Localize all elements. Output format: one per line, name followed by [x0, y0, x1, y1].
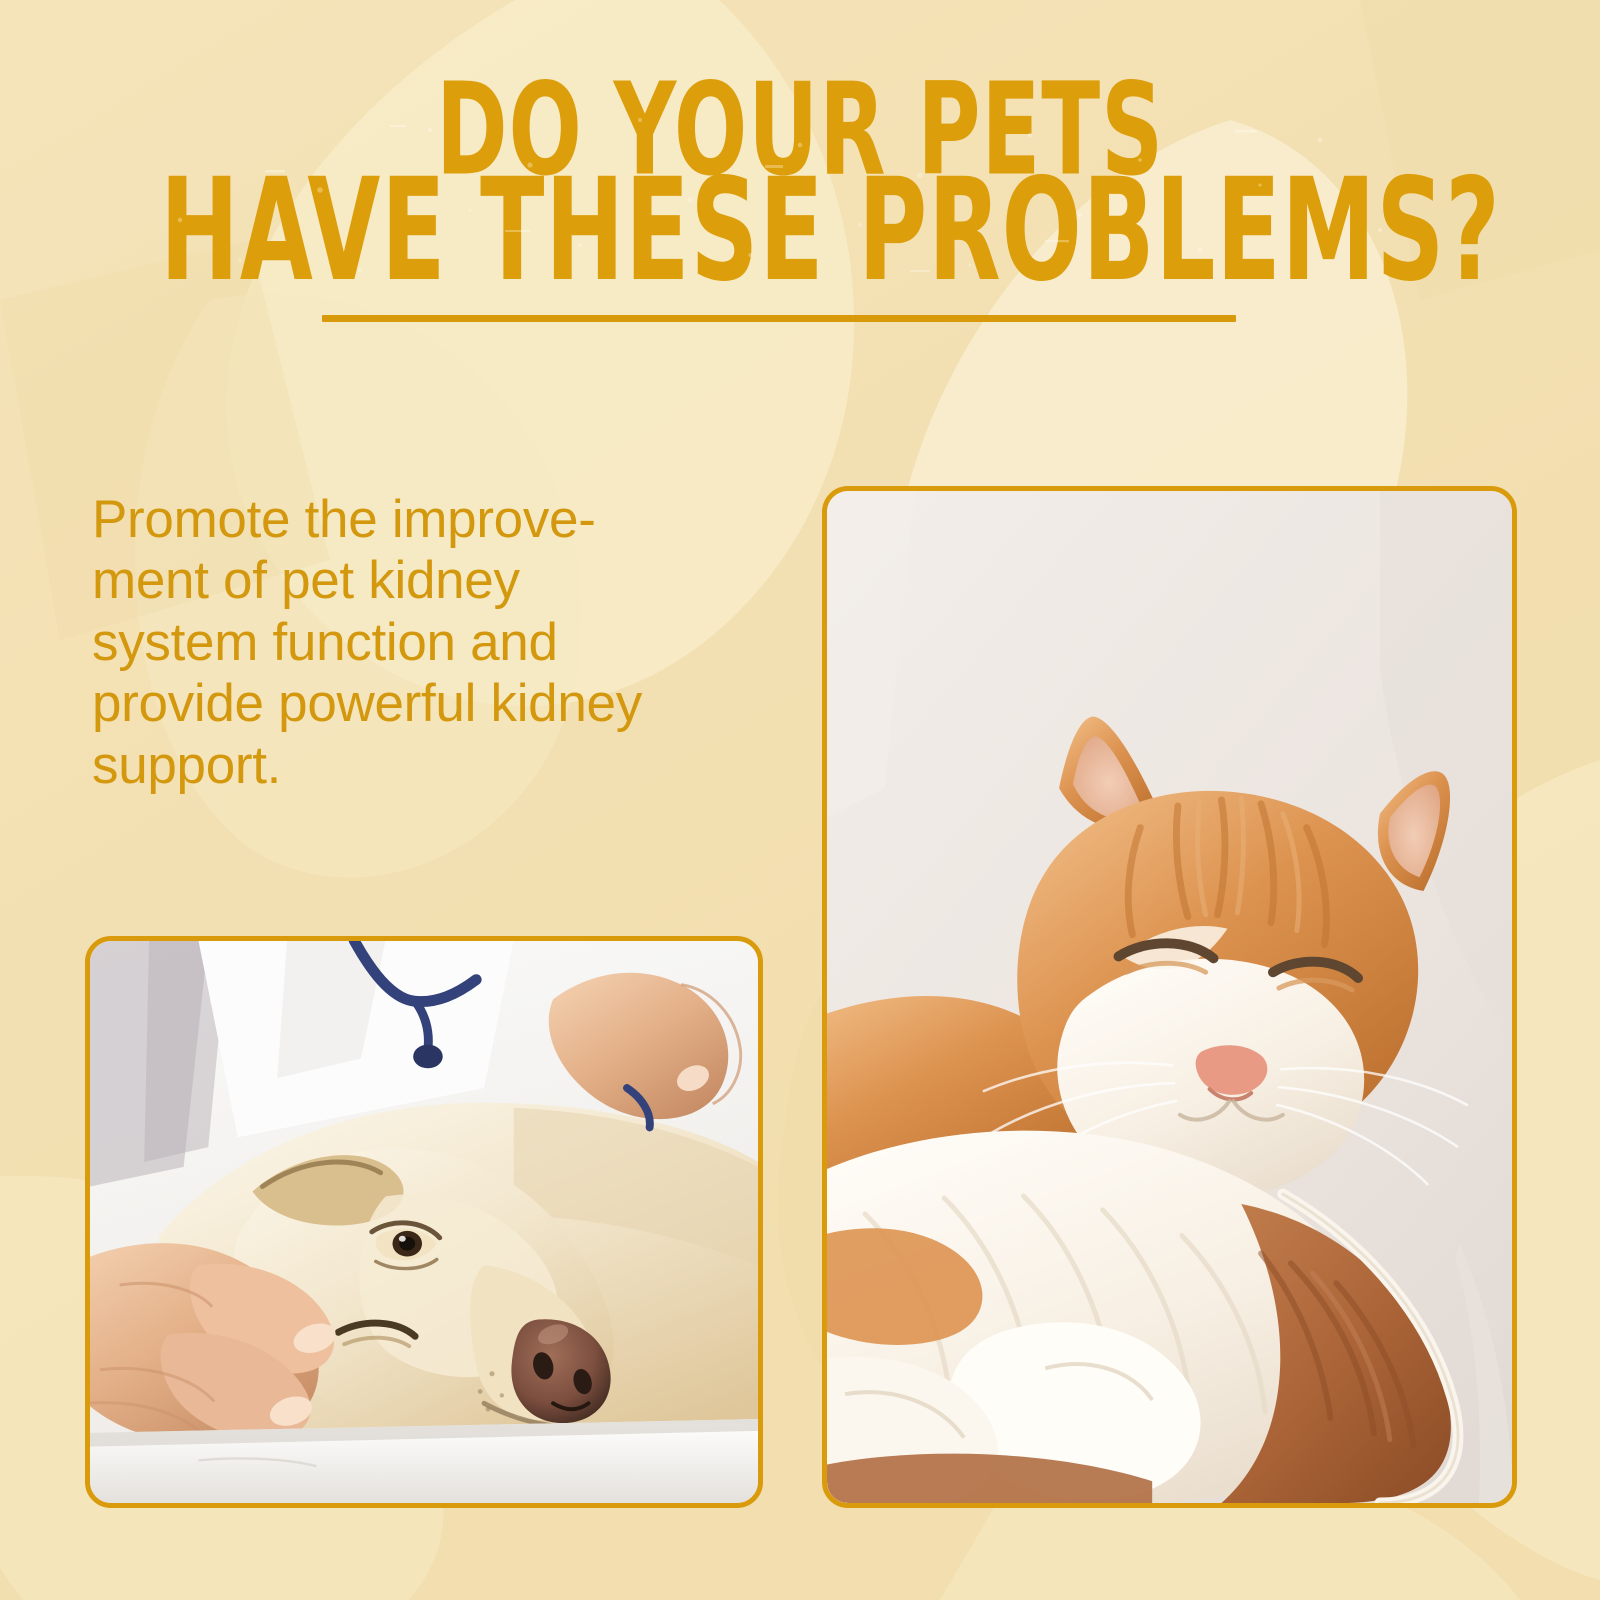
poster-canvas: DO YOUR PETS HAVE THESE PROBLEMS? [0, 0, 1600, 1600]
headline: DO YOUR PETS HAVE THESE PROBLEMS? [0, 72, 1600, 274]
headline-line-2: HAVE THESE PROBLEMS? [160, 165, 1440, 295]
body-copy-line: provide powerful kidney [92, 673, 752, 734]
body-copy-line: support. [92, 735, 752, 796]
body-copy-line: system function and [92, 612, 752, 673]
dog-photo [90, 941, 758, 1503]
cat-photo-frame [822, 486, 1517, 1508]
body-copy-line: ment of pet kidney [92, 550, 752, 611]
body-copy-line: Promote the improve- [92, 489, 752, 550]
dog-photo-frame [85, 936, 763, 1508]
headline-divider [322, 315, 1236, 322]
body-copy: Promote the improve- ment of pet kidney … [92, 489, 752, 796]
cat-photo [827, 491, 1512, 1503]
